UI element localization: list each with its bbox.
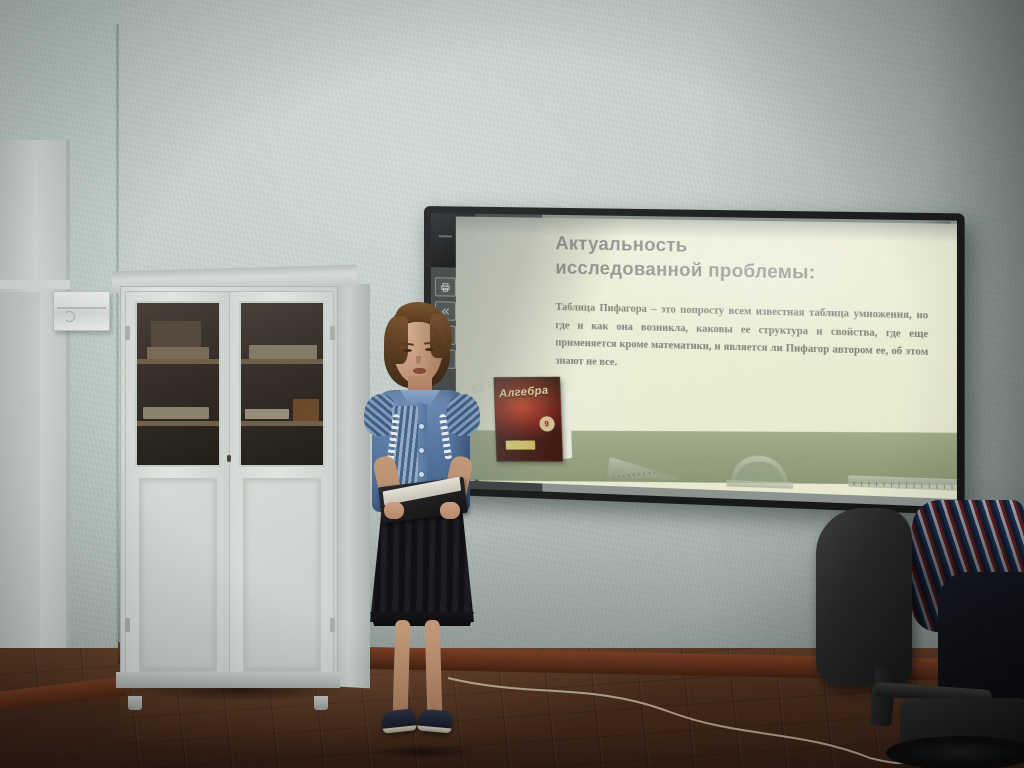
doorway-frame <box>0 140 70 700</box>
presenter <box>356 306 486 756</box>
cabinet-glass-pane-left <box>135 301 221 467</box>
presenter-skirt-hem <box>370 612 474 626</box>
cabinet-papers <box>245 409 289 419</box>
cabinet-foot <box>128 696 142 710</box>
cabinet-box <box>293 399 319 421</box>
book-grade-label: 6 <box>487 380 492 389</box>
cabinet-shelf <box>137 359 219 364</box>
interactive-whiteboard[interactable]: ∫T(x)ƒ(x, ) = (ξ1 − a σ2 , θ)dx = M( 6,6… <box>424 206 965 515</box>
book-title: Алгебра <box>498 384 556 400</box>
presenter-hand-left <box>384 502 404 519</box>
presenter-leg-right <box>425 620 443 716</box>
presenter-sleeve-right <box>446 394 480 436</box>
wall-switch-box[interactable] <box>53 291 110 331</box>
presenter-blouse-button <box>419 448 424 453</box>
cabinet-lock-icon[interactable] <box>227 455 231 462</box>
cabinet-hinge <box>330 618 335 632</box>
cabinet-papers <box>143 407 209 419</box>
shoe-sole <box>417 725 451 733</box>
algebra-textbook: 6 Алгебра 9 <box>493 376 563 461</box>
whiteboard-surface[interactable]: ∫T(x)ƒ(x, ) = (ξ1 − a σ2 , θ)dx = M( 6,6… <box>431 213 957 507</box>
cabinet-lower-panel-right <box>243 478 321 672</box>
presenter-blouse-button <box>419 472 424 477</box>
cabinet-foot <box>314 696 328 710</box>
presenter-shoe-left <box>381 708 417 733</box>
presenter-shoe-right <box>417 709 453 734</box>
presenter-leg-left <box>393 620 411 716</box>
photo-scene: ∫T(x)ƒ(x, ) = (ξ1 − a σ2 , θ)dx = M( 6,6… <box>0 0 1024 768</box>
formula-line: ) = (ξ1 − a <box>475 276 535 294</box>
wall-box-seam <box>57 307 106 309</box>
seated-viewer <box>912 500 1024 712</box>
cabinet-glass-pane-right <box>239 301 325 467</box>
cabinet-books <box>249 345 317 359</box>
cabinet-shelf <box>137 421 219 426</box>
door-jamb <box>0 280 70 289</box>
chair-base <box>886 736 1024 768</box>
book-cover-strip <box>505 440 535 449</box>
shoe-sole <box>383 725 417 734</box>
cabinet-shelf <box>241 359 323 364</box>
cabinet-hinge <box>125 326 130 340</box>
presenter-blouse-button <box>419 424 424 429</box>
cabinet-hinge <box>330 326 335 340</box>
cabinet-shelf <box>241 421 323 426</box>
formula-line: ∫T(x)ƒ(x, <box>469 234 516 257</box>
cabinet-door-left[interactable] <box>125 291 230 683</box>
cabinet-lower-panel-left <box>139 478 217 672</box>
print-icon[interactable] <box>435 277 456 296</box>
cabinet-door-right[interactable] <box>229 291 334 683</box>
cabinet-books <box>147 347 209 359</box>
book-cover: 6 Алгебра 9 <box>493 376 563 461</box>
office-chair[interactable] <box>812 500 1024 768</box>
book-number-badge: 9 <box>539 416 555 431</box>
projected-slide: ∫T(x)ƒ(x, ) = (ξ1 − a σ2 , θ)dx = M( 6,6… <box>456 216 957 499</box>
speaker-slot <box>439 235 452 237</box>
chair-backrest[interactable] <box>816 508 912 686</box>
slide-title: Актуальность исследованной проблемы: <box>555 231 938 287</box>
cabinet-hinge <box>125 618 130 632</box>
slide-body-text: Таблица Пифагора – это попросту всем изв… <box>555 299 928 380</box>
storage-cabinet[interactable] <box>106 268 364 698</box>
cabinet-plinth <box>116 672 340 688</box>
cabinet-body <box>120 286 338 688</box>
wall-box-knob-icon <box>64 311 75 322</box>
presenter-hand-right <box>440 502 460 519</box>
